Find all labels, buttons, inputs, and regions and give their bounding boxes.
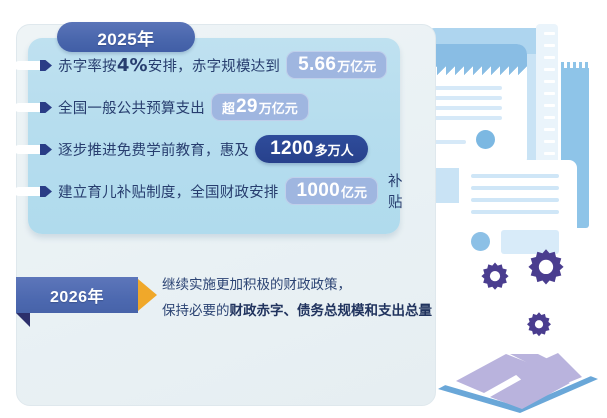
- arrow-bullet-icon: [14, 101, 58, 113]
- badge-2025: 2025年: [57, 22, 195, 52]
- arrow-bullet-icon: [14, 185, 58, 197]
- document-page-icon: [459, 160, 577, 276]
- item-trailing: 补贴: [388, 170, 403, 212]
- value-chip-highlight: 1200多万人: [255, 135, 367, 163]
- chip-number: 5.66: [298, 54, 336, 76]
- chip-unit: 万亿元: [259, 98, 298, 117]
- item-lead: 逐步推进免费学前教育，惠及: [58, 143, 249, 159]
- chip-number: 1200: [270, 138, 313, 160]
- paragraph-2026-line2-prefix: 保持必要的: [162, 303, 230, 319]
- ruler-strip-icon: [536, 24, 558, 209]
- chip-number: 29: [236, 96, 258, 118]
- list-item-text: 赤字率按4%安排，赤字规模达到: [58, 55, 280, 76]
- isometric-grid-panel-icon: [428, 327, 603, 415]
- paragraph-2026: 继续实施更加积极的财政政策， 保持必要的财政赤字、债务总规模和支出总量: [162, 272, 412, 324]
- badge-2025-label: 2025年: [97, 25, 154, 50]
- badge-2026-label: 2026年: [50, 283, 104, 307]
- document-back-page-icon: [423, 28, 551, 203]
- list-item: 建立育儿补贴制度，全国财政安排 1000亿元 补贴: [28, 170, 400, 212]
- value-chip: 5.66万亿元: [286, 51, 387, 79]
- gear-icon: [524, 246, 568, 290]
- value-chip: 超29万亿元: [211, 93, 309, 121]
- infographic-canvas: 2025年 赤字率按4%安排，赤字规模达到 5.66万亿元 全国一般公共预算支出…: [0, 0, 607, 418]
- list-item-text: 全国一般公共预算支出: [58, 97, 205, 118]
- arrow-right-icon: [138, 279, 157, 311]
- item-emphasis: 4%: [117, 55, 148, 76]
- gear-icon: [478, 260, 512, 294]
- paragraph-2026-line1: 继续实施更加积极的财政政策，: [162, 272, 412, 298]
- document-back-header-icon: [423, 28, 551, 54]
- chip-unit: 亿元: [341, 182, 367, 201]
- item-lead: 赤字率按: [58, 59, 117, 75]
- list-item-text: 逐步推进免费学前教育，惠及: [58, 139, 249, 160]
- paragraph-2026-line2-bold: 财政赤字、债务总规模和支出总量: [230, 303, 433, 319]
- chip-prefix: 超: [222, 98, 235, 117]
- blue-paper-strip-icon: [561, 68, 589, 228]
- arrow-bullet-icon: [14, 143, 58, 155]
- chip-unit: 多万人: [315, 140, 354, 159]
- chip-number: 1000: [297, 180, 340, 202]
- items-panel-2025: 赤字率按4%安排，赤字规模达到 5.66万亿元 全国一般公共预算支出 超29万亿…: [28, 38, 400, 234]
- item-lead: 建立育儿补贴制度，全国财政安排: [58, 185, 279, 201]
- item-lead-tail: 安排，赤字规模达到: [148, 59, 280, 75]
- arrow-bullet-icon: [14, 59, 58, 71]
- badge-2026: 2026年: [16, 277, 138, 313]
- gear-icon: [524, 310, 554, 340]
- paragraph-2026-line2: 保持必要的财政赤字、债务总规模和支出总量: [162, 298, 412, 324]
- list-item-text: 建立育儿补贴制度，全国财政安排: [58, 181, 279, 202]
- list-item: 逐步推进免费学前教育，惠及 1200多万人: [28, 128, 400, 170]
- list-item: 全国一般公共预算支出 超29万亿元: [28, 86, 400, 128]
- value-chip: 1000亿元: [285, 177, 378, 205]
- item-lead: 全国一般公共预算支出: [58, 101, 205, 117]
- chip-unit: 万亿元: [337, 56, 376, 75]
